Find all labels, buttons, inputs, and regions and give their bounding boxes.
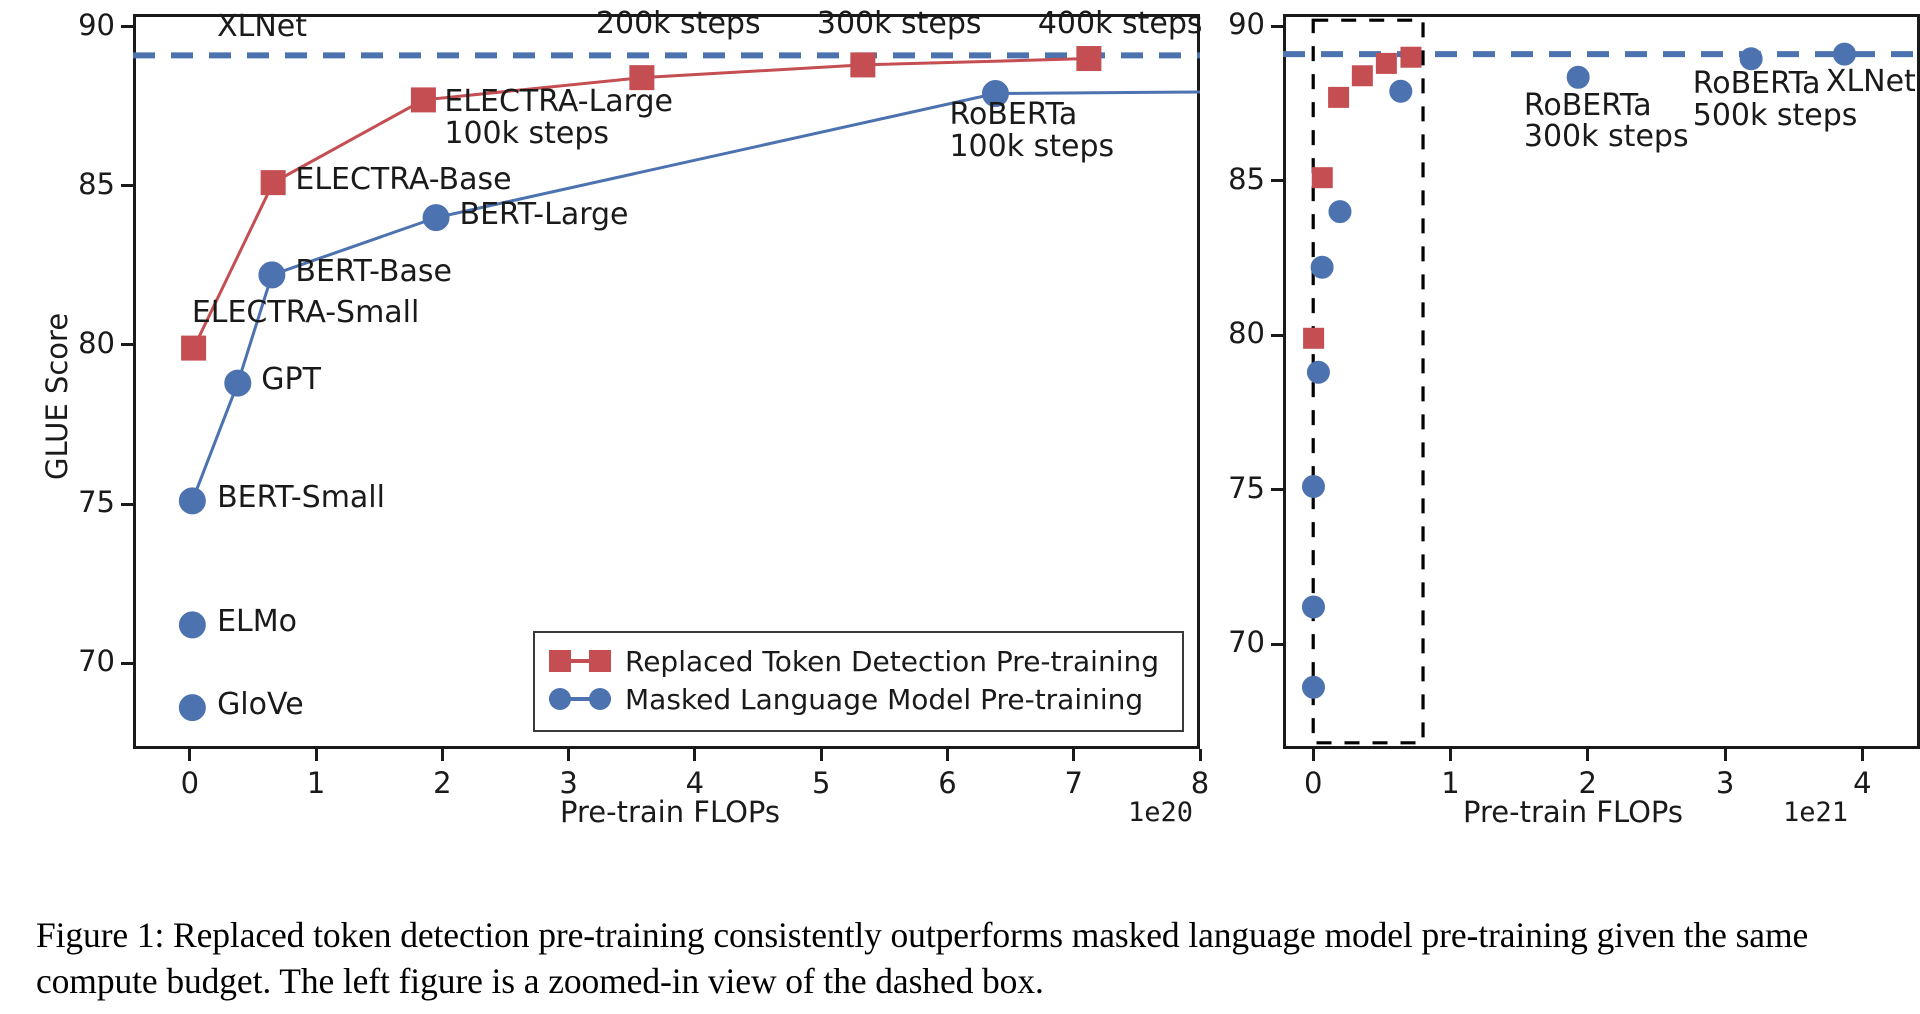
y-tick-mark	[1271, 179, 1283, 182]
y-tick-label-70: 70	[35, 644, 115, 678]
plot-annotation: ELECTRA-Large 100k steps	[444, 86, 673, 150]
legend-label-replaced-token-detection: Replaced Token Detection Pre-training	[625, 645, 1159, 678]
y-tick-mark	[1271, 643, 1283, 646]
x-tick-label-0: 0	[1273, 766, 1353, 800]
x-tick-mark	[1586, 749, 1589, 761]
x-tick-mark	[1861, 749, 1864, 761]
x-tick-label-6: 6	[907, 766, 987, 800]
left-x-axis-title: Pre-train FLOPs	[560, 795, 780, 829]
y-tick-label-85: 85	[1185, 162, 1265, 196]
legend-item-replaced-token-detection[interactable]: Replaced Token Detection Pre-training	[549, 642, 1166, 680]
y-tick-mark	[1271, 25, 1283, 28]
x-tick-mark	[1072, 749, 1075, 761]
x-tick-mark	[1199, 749, 1202, 761]
y-tick-label-75: 75	[35, 485, 115, 519]
plot-annotation: 400k steps	[1038, 8, 1203, 40]
y-tick-label-85: 85	[35, 167, 115, 201]
x-tick-mark	[1312, 749, 1315, 761]
x-tick-label-3: 3	[1685, 766, 1765, 800]
legend-swatch-circle-icon	[549, 688, 611, 710]
y-tick-mark	[121, 25, 133, 28]
plot-annotation: XLNet	[1826, 66, 1916, 98]
plot-annotation: GloVe	[217, 689, 304, 721]
plot-annotation: ELECTRA-Base	[295, 164, 511, 196]
y-tick-label-70: 70	[1185, 625, 1265, 659]
x-tick-label-4: 4	[1822, 766, 1902, 800]
left-y-axis-title: GLUE Score	[40, 313, 74, 480]
legend-item-masked-language-model[interactable]: Masked Language Model Pre-training	[549, 680, 1166, 718]
x-tick-mark	[693, 749, 696, 761]
x-tick-mark	[820, 749, 823, 761]
plot-annotation: ELMo	[217, 606, 297, 638]
y-tick-mark	[1271, 488, 1283, 491]
x-tick-mark	[1724, 749, 1727, 761]
x-tick-mark	[567, 749, 570, 761]
legend-swatch-square-icon	[549, 650, 611, 672]
plot-annotation: RoBERTa 300k steps	[1524, 90, 1689, 154]
y-tick-mark	[121, 662, 133, 665]
left-panel: 7075808590012345678 GLUE Score Pre-train…	[0, 0, 1210, 860]
plot-annotation: RoBERTa 100k steps	[949, 99, 1114, 163]
x-tick-label-1: 1	[276, 766, 356, 800]
left-plot-legend: Replaced Token Detection Pre-training Ma…	[533, 631, 1184, 732]
plot-annotation: BERT-Small	[217, 482, 385, 514]
x-tick-mark	[441, 749, 444, 761]
plot-annotation: GPT	[261, 364, 321, 396]
plot-annotation: BERT-Large	[460, 199, 629, 231]
y-tick-label-75: 75	[1185, 471, 1265, 505]
x-tick-label-7: 7	[1034, 766, 1114, 800]
right-x-axis-offset: 1e21	[1783, 797, 1848, 828]
x-tick-label-0: 0	[150, 766, 230, 800]
y-tick-mark	[1271, 334, 1283, 337]
x-tick-label-2: 2	[402, 766, 482, 800]
figure-1: 7075808590012345678 GLUE Score Pre-train…	[0, 0, 1920, 1014]
plot-annotation: BERT-Base	[295, 256, 452, 288]
y-tick-mark	[121, 503, 133, 506]
x-tick-mark	[188, 749, 191, 761]
right-panel: 707580859001234 Pre-train FLOPs 1e21 RoB…	[1210, 0, 1920, 860]
y-tick-label-80: 80	[1185, 316, 1265, 350]
right-x-axis-title: Pre-train FLOPs	[1463, 795, 1683, 829]
y-tick-label-90: 90	[1185, 7, 1265, 41]
x-tick-mark	[946, 749, 949, 761]
figure-caption: Figure 1: Replaced token detection pre-t…	[36, 912, 1888, 1004]
x-tick-label-5: 5	[781, 766, 861, 800]
y-tick-mark	[121, 184, 133, 187]
plot-annotation: 300k steps	[817, 8, 982, 40]
y-tick-label-90: 90	[35, 8, 115, 42]
plot-annotation: 200k steps	[596, 8, 761, 40]
x-tick-mark	[1449, 749, 1452, 761]
y-tick-mark	[121, 343, 133, 346]
plot-annotation: XLNet	[217, 11, 307, 43]
legend-label-masked-language-model: Masked Language Model Pre-training	[625, 683, 1143, 716]
left-x-axis-offset: 1e20	[1128, 797, 1193, 828]
x-tick-mark	[315, 749, 318, 761]
plot-annotation: ELECTRA-Small	[192, 297, 420, 329]
